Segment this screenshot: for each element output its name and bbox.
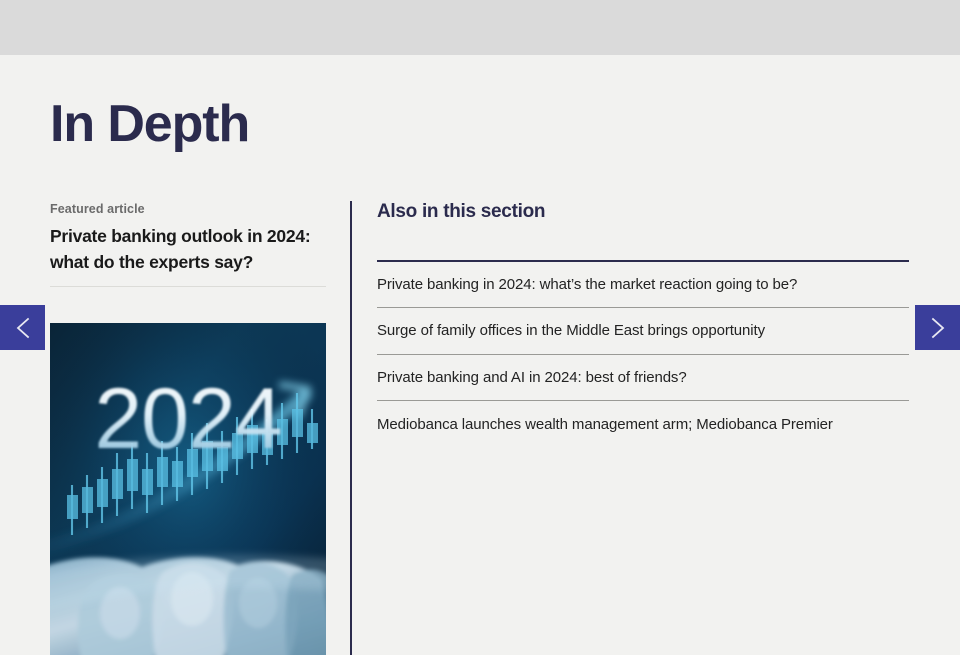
featured-article-image[interactable]: 2024 bbox=[50, 323, 326, 655]
list-item[interactable]: Private banking and AI in 2024: best of … bbox=[377, 355, 909, 402]
page-content: In Depth Featured article Private bankin… bbox=[0, 55, 960, 655]
carousel-next-button[interactable] bbox=[915, 305, 960, 350]
section-divider bbox=[350, 201, 352, 655]
list-item-label: Private banking in 2024: what’s the mark… bbox=[377, 275, 797, 295]
featured-article[interactable]: Featured article Private banking outlook… bbox=[50, 201, 326, 287]
chevron-left-icon bbox=[13, 316, 33, 340]
list-item[interactable]: Surge of family offices in the Middle Ea… bbox=[377, 308, 909, 355]
featured-article-title[interactable]: Private banking outlook in 2024: what do… bbox=[50, 224, 326, 275]
chevron-right-icon bbox=[928, 316, 948, 340]
also-in-this-section: Also in this section Private banking in … bbox=[377, 201, 909, 448]
list-item[interactable]: Mediobanca launches wealth management ar… bbox=[377, 401, 909, 448]
list-item[interactable]: Private banking in 2024: what’s the mark… bbox=[377, 262, 909, 309]
also-section-heading: Also in this section bbox=[377, 201, 909, 224]
featured-divider bbox=[50, 286, 326, 287]
carousel-prev-button[interactable] bbox=[0, 305, 45, 350]
featured-article-label: Featured article bbox=[50, 201, 326, 217]
page-title: In Depth bbox=[50, 98, 249, 150]
browser-top-bar bbox=[0, 0, 960, 55]
list-item-label: Mediobanca launches wealth management ar… bbox=[377, 415, 833, 435]
2024-stock-market-hand-image: 2024 bbox=[50, 323, 326, 655]
list-item-label: Private banking and AI in 2024: best of … bbox=[377, 368, 687, 388]
svg-text:2024: 2024 bbox=[94, 371, 281, 467]
list-item-label: Surge of family offices in the Middle Ea… bbox=[377, 321, 765, 341]
